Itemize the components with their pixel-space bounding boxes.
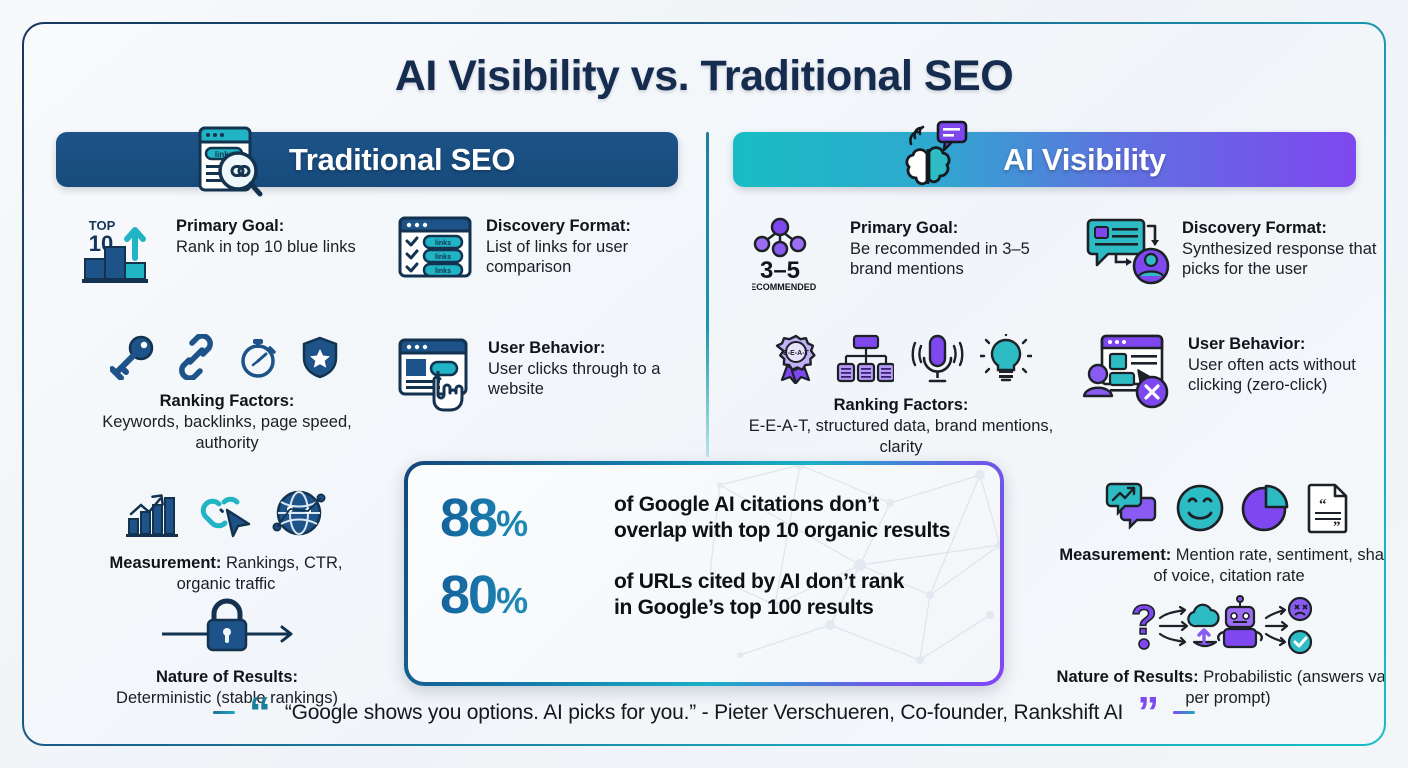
stat-2-symbol: %	[496, 580, 526, 621]
right-discovery-label: Discovery Format:	[1182, 218, 1384, 239]
left-nature-label: Nature of Results:	[156, 668, 298, 686]
globe-network-icon	[271, 486, 329, 547]
left-ranking-factors-icons	[72, 334, 382, 385]
stat-1-value-group: 88%	[440, 491, 592, 545]
structured-data-icon	[836, 334, 894, 389]
key-icon	[110, 334, 158, 385]
chat-trend-icon	[1105, 482, 1161, 539]
svg-text:”: ”	[1333, 519, 1341, 534]
left-discovery-text: Discovery Format: List of links for user…	[486, 214, 696, 278]
stopwatch-icon	[234, 334, 282, 385]
chain-link-icon	[172, 334, 220, 385]
right-measurement-label: Measurement:	[1059, 546, 1171, 564]
right-ranking-factors-label: Ranking Factors:	[834, 396, 969, 414]
left-item-ranking-factors: Ranking Factors: Keywords, backlinks, pa…	[72, 334, 382, 453]
right-user-behavior-text: User Behavior: User often acts without c…	[1188, 332, 1384, 396]
right-item-nature-of-results: ?	[1052, 594, 1384, 709]
quote-rule-left	[213, 711, 235, 714]
left-ranking-factors-label: Ranking Factors:	[160, 392, 295, 410]
stat-card-inner: 88% of Google AI citations don’t overlap…	[408, 465, 1000, 682]
brain-chat-bubble-icon	[883, 114, 979, 215]
stat-1-line2: overlap with top 10 organic results	[614, 518, 950, 544]
svg-text:“: “	[1319, 497, 1327, 513]
chat-bubble-to-user-icon	[1086, 216, 1170, 295]
right-ranking-factors-value: E-E-A-T, structured data, brand mentions…	[749, 417, 1053, 456]
eeat-badge-icon: E-E-A-T	[770, 334, 822, 389]
right-item-ranking-factors: E-E-A-T	[746, 334, 1056, 457]
stat-2-line1: of URLs cited by AI don’t rank	[614, 569, 904, 595]
left-item-user-behavior: User Behavior: User clicks through to a …	[396, 336, 696, 417]
right-discovery-value: Synthesized response that picks for the …	[1182, 239, 1384, 280]
quote-text: “Google shows you options. AI picks for …	[285, 701, 1123, 725]
svg-text:RECOMMENDED: RECOMMENDED	[752, 282, 817, 292]
lightbulb-icon	[980, 334, 1032, 389]
right-user-behavior-label: User Behavior:	[1188, 334, 1384, 355]
left-item-nature-of-results: Nature of Results: Deterministic (stable…	[72, 594, 382, 709]
node-tree-3-5-recommended-icon: 3–5 RECOMMENDED	[752, 216, 838, 301]
browser-click-cursor-icon	[396, 336, 476, 417]
right-measurement-caption: Measurement: Mention rate, sentiment, sh…	[1054, 545, 1384, 587]
pie-chart-icon	[1239, 482, 1291, 539]
stat-1-text: of Google AI citations don’t overlap wit…	[614, 492, 950, 543]
shield-star-icon	[296, 334, 344, 385]
quote-rule-right	[1173, 711, 1195, 714]
stat-row-2: 80% of URLs cited by AI don’t rank in Go…	[440, 568, 1000, 622]
right-item-user-behavior: User Behavior: User often acts without c…	[1080, 332, 1384, 417]
frame-inner: AI Visibility vs. Traditional SEO links	[24, 24, 1384, 744]
left-user-behavior-label: User Behavior:	[488, 338, 696, 359]
svg-text:links: links	[435, 268, 451, 275]
page-title: AI Visibility vs. Traditional SEO	[24, 52, 1384, 101]
left-primary-goal-value: Rank in top 10 blue links	[176, 237, 356, 258]
left-primary-goal-label: Primary Goal:	[176, 216, 356, 237]
quote-close-icon: ”	[1137, 700, 1159, 726]
browser-search-link-icon: links	[182, 114, 274, 211]
stat-2-value: 80	[440, 565, 496, 625]
left-discovery-label: Discovery Format:	[486, 216, 696, 237]
svg-text:3–5: 3–5	[760, 257, 800, 284]
padlock-arrow-icon	[152, 594, 302, 661]
right-ranking-factors-caption: Ranking Factors: E-E-A-T, structured dat…	[746, 395, 1056, 457]
left-primary-goal-text: Primary Goal: Rank in top 10 blue links	[176, 214, 356, 257]
growth-chart-icon	[123, 486, 185, 547]
right-item-measurement: “ ” Measurement: Mention rate, sentiment…	[1054, 482, 1384, 587]
svg-text:links: links	[435, 254, 451, 261]
left-discovery-value: List of links for user comparison	[486, 237, 696, 278]
column-header-traditional-seo: links Traditional SEO	[56, 132, 678, 187]
right-user-behavior-value: User often acts without clicking (zero-c…	[1188, 355, 1384, 396]
column-divider	[706, 132, 709, 457]
top10-bar-chart-icon: TOP 10	[82, 214, 164, 291]
microphone-icon	[908, 334, 966, 389]
right-ranking-factors-icons: E-E-A-T	[746, 334, 1056, 389]
left-ranking-factors-value: Keywords, backlinks, page speed, authori…	[102, 413, 351, 452]
quote-open-icon: “	[249, 700, 271, 726]
left-item-primary-goal: TOP 10 Primary Goal: Rank in top 10 blue…	[82, 214, 362, 291]
left-measurement-label: Measurement:	[110, 554, 222, 572]
outer-frame: AI Visibility vs. Traditional SEO links	[22, 22, 1386, 746]
left-user-behavior-text: User Behavior: User clicks through to a …	[488, 336, 696, 400]
right-discovery-text: Discovery Format: Synthesized response t…	[1182, 216, 1384, 280]
stat-2-value-group: 80%	[440, 568, 592, 622]
left-item-discovery-format: links links links Discovery Format: List…	[396, 214, 696, 287]
left-user-behavior-value: User clicks through to a website	[488, 359, 696, 400]
left-measurement-caption: Measurement: Rankings, CTR, organic traf…	[86, 553, 366, 595]
svg-text:links: links	[435, 240, 451, 247]
stat-2-line2: in Google’s top 100 results	[614, 595, 904, 621]
smiley-face-icon	[1175, 482, 1225, 539]
zero-click-browser-icon	[1080, 332, 1176, 417]
stat-2-text: of URLs cited by AI don’t rank in Google…	[614, 569, 904, 620]
right-primary-goal-value: Be recommended in 3–5 brand mentions	[850, 239, 1032, 280]
broken-link-cursor-icon	[199, 486, 257, 547]
question-mark-icon: ?	[1128, 594, 1328, 661]
right-item-discovery-format: Discovery Format: Synthesized response t…	[1086, 216, 1384, 295]
column-header-ai-visibility: AI Visibility	[733, 132, 1356, 187]
left-ranking-factors-caption: Ranking Factors: Keywords, backlinks, pa…	[72, 391, 382, 453]
stat-1-value: 88	[440, 488, 496, 548]
right-measurement-value: Mention rate, sentiment, share of voice,…	[1153, 546, 1384, 585]
stat-1-line1: of Google AI citations don’t	[614, 492, 950, 518]
svg-text:E-E-A-T: E-E-A-T	[783, 350, 809, 357]
infographic-root: AI Visibility vs. Traditional SEO links	[0, 0, 1408, 768]
left-nature-icons	[72, 594, 382, 661]
checklist-links-window-icon: links links links	[396, 214, 474, 287]
right-nature-icons: ?	[1052, 594, 1384, 661]
svg-text:?: ?	[1131, 596, 1157, 643]
left-item-measurement: Measurement: Rankings, CTR, organic traf…	[86, 486, 366, 595]
left-measurement-icons	[86, 486, 366, 547]
right-measurement-icons: “ ”	[1054, 482, 1384, 539]
stat-1-symbol: %	[496, 503, 526, 544]
right-primary-goal-text: Primary Goal: Be recommended in 3–5 bran…	[850, 216, 1032, 280]
quote-document-icon: “ ”	[1305, 482, 1353, 539]
right-item-primary-goal: 3–5 RECOMMENDED Primary Goal: Be recomme…	[752, 216, 1032, 301]
right-nature-label: Nature of Results:	[1057, 668, 1199, 686]
stat-row-1: 88% of Google AI citations don’t overlap…	[440, 491, 1000, 545]
footer-quote: “ “Google shows you options. AI picks fo…	[24, 700, 1384, 726]
right-primary-goal-label: Primary Goal:	[850, 218, 1032, 239]
stat-highlight-card: 88% of Google AI citations don’t overlap…	[404, 461, 1004, 686]
